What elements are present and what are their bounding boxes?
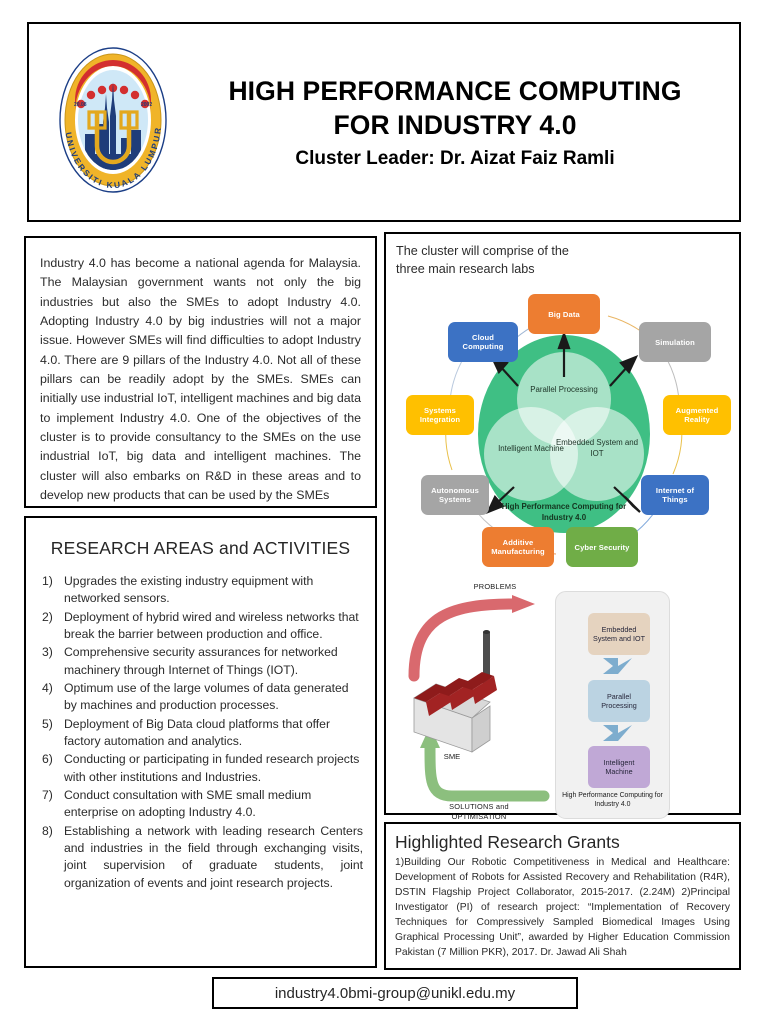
list-item-text: Establishing a network with leading rese…: [64, 823, 363, 892]
problems-label: PROBLEMS: [458, 582, 532, 592]
solutions-label: SOLUTIONS and OPTIMISATION: [424, 802, 534, 821]
factory-label: SME: [432, 752, 472, 762]
pillar-label: Simulation: [655, 338, 695, 347]
poster-header: UNIVERSITI KUALA LUMPUR 20.08 2002 HIGH …: [27, 22, 741, 222]
list-item: 7) Conduct consultation with SME small m…: [38, 787, 363, 822]
pillar-simulation[interactable]: Simulation: [639, 322, 711, 362]
logo-year-right: 2002: [141, 102, 152, 108]
pillar-label: Cloud Computing: [451, 333, 515, 352]
introduction-panel: Industry 4.0 has become a national agend…: [24, 236, 377, 508]
contact-email: industry4.0bmi-group@unikl.edu.my: [275, 985, 515, 1002]
unikl-logo: UNIVERSITI KUALA LUMPUR 20.08 2002: [53, 42, 173, 202]
pillar-additive-manufacturing[interactable]: Additive Manufacturing: [482, 527, 554, 567]
research-grants-panel: Highlighted Research Grants 1)Building O…: [384, 822, 741, 970]
pillar-cyber-security[interactable]: Cyber Security: [566, 527, 638, 567]
pillar-label: Autonomous Systems: [424, 486, 486, 505]
pillar-label: Additive Manufacturing: [485, 538, 551, 557]
pillar-systems-integration[interactable]: Systems Integration: [406, 395, 474, 435]
research-areas-list: 1) Upgrades the existing industry equipm…: [38, 573, 363, 892]
list-item-number: 3): [38, 644, 64, 679]
nine-pillars-wheel: Big Data Simulation Augmented Reality In…: [396, 282, 733, 582]
list-item-text: Conduct consultation with SME small medi…: [64, 787, 363, 822]
grants-body: 1)Building Our Robotic Competitiveness i…: [395, 856, 730, 960]
stage-label: Intelligent Machine: [590, 758, 648, 777]
grants-title: Highlighted Research Grants: [395, 832, 730, 853]
list-item: 3) Comprehensive security assurances for…: [38, 644, 363, 679]
introduction-paragraph: Industry 4.0 has become a national agend…: [40, 254, 361, 505]
cluster-caption: The cluster will comprise of the three m…: [396, 243, 729, 278]
list-item: 1) Upgrades the existing industry equipm…: [38, 573, 363, 608]
problems-arrow: [414, 604, 514, 676]
list-item-number: 8): [38, 823, 64, 892]
poster-title-line2: FOR INDUSTRY 4.0: [197, 108, 713, 142]
list-item-text: Upgrades the existing industry equipment…: [64, 573, 363, 608]
pillar-label: Systems Integration: [409, 406, 471, 425]
logo-year-left: 20.08: [74, 102, 87, 108]
header-title-block: HIGH PERFORMANCE COMPUTING FOR INDUSTRY …: [197, 74, 739, 171]
list-item-number: 7): [38, 787, 64, 822]
hpc-stack-caption: High Performance Computing for Industry …: [556, 792, 669, 810]
contact-email-box[interactable]: industry4.0bmi-group@unikl.edu.my: [212, 977, 578, 1009]
factory-icon: [414, 630, 497, 752]
list-item: 8) Establishing a network with leading r…: [38, 823, 363, 892]
list-item: 6) Conducting or participating in funded…: [38, 751, 363, 786]
logo-container: UNIVERSITI KUALA LUMPUR 20.08 2002: [29, 42, 197, 202]
pillar-cloud-computing[interactable]: Cloud Computing: [448, 322, 518, 362]
pillar-internet-of-things[interactable]: Internet of Things: [641, 475, 709, 515]
venn-label-parallel-processing: Parallel Processing: [522, 385, 606, 395]
pillar-label: Augmented Reality: [666, 406, 728, 425]
research-areas-title: RESEARCH AREAS and ACTIVITIES: [38, 538, 363, 559]
venn-label-embedded-system-iot: Embedded System and IOT: [555, 438, 639, 459]
stage-embedded-system-iot[interactable]: Embedded System and IOT: [588, 613, 650, 655]
pillar-label: Big Data: [548, 310, 580, 319]
cluster-caption-line2: three main research labs: [396, 261, 729, 279]
cluster-leader-subtitle: Cluster Leader: Dr. Aizat Faiz Ramli: [197, 148, 713, 170]
pillar-big-data[interactable]: Big Data: [528, 294, 600, 334]
stage-label: Parallel Processing: [590, 692, 648, 711]
cluster-caption-line1: The cluster will comprise of the: [396, 243, 729, 261]
research-areas-panel: RESEARCH AREAS and ACTIVITIES 1) Upgrade…: [24, 516, 377, 968]
list-item-number: 5): [38, 716, 64, 751]
poster-title-line1: HIGH PERFORMANCE COMPUTING: [197, 74, 713, 108]
list-item: 2) Deployment of hybrid wired and wirele…: [38, 609, 363, 644]
list-item-text: Comprehensive security assurances for ne…: [64, 644, 363, 679]
poster-root: UNIVERSITI KUALA LUMPUR 20.08 2002 HIGH …: [0, 0, 768, 1024]
pillar-autonomous-systems[interactable]: Autonomous Systems: [421, 475, 489, 515]
pillar-label: Internet of Things: [644, 486, 706, 505]
list-item-number: 2): [38, 609, 64, 644]
list-item-text: Conducting or participating in funded re…: [64, 751, 363, 786]
unikl-crest-icon: UNIVERSITI KUALA LUMPUR 20.08 2002: [53, 42, 173, 202]
list-item: 4) Optimum use of the large volumes of d…: [38, 680, 363, 715]
stage-intelligent-machine[interactable]: Intelligent Machine: [588, 746, 650, 788]
list-item-text: Deployment of hybrid wired and wireless …: [64, 609, 363, 644]
stage-label: Embedded System and IOT: [590, 625, 648, 644]
list-item-text: Optimum use of the large volumes of data…: [64, 680, 363, 715]
list-item: 5) Deployment of Big Data cloud platform…: [38, 716, 363, 751]
sme-solution-flow: PROBLEMS SME SOLUTIONS and OPTIMISATION …: [396, 580, 733, 832]
list-item-number: 4): [38, 680, 64, 715]
list-item-number: 1): [38, 573, 64, 608]
hpc-core-label: High Performance Computing for Industry …: [501, 502, 627, 523]
stage-parallel-processing[interactable]: Parallel Processing: [588, 680, 650, 722]
pillar-augmented-reality[interactable]: Augmented Reality: [663, 395, 731, 435]
cluster-diagram-panel: The cluster will comprise of the three m…: [384, 232, 741, 815]
list-item-number: 6): [38, 751, 64, 786]
list-item-text: Deployment of Big Data cloud platforms t…: [64, 716, 363, 751]
pillar-label: Cyber Security: [574, 543, 629, 552]
